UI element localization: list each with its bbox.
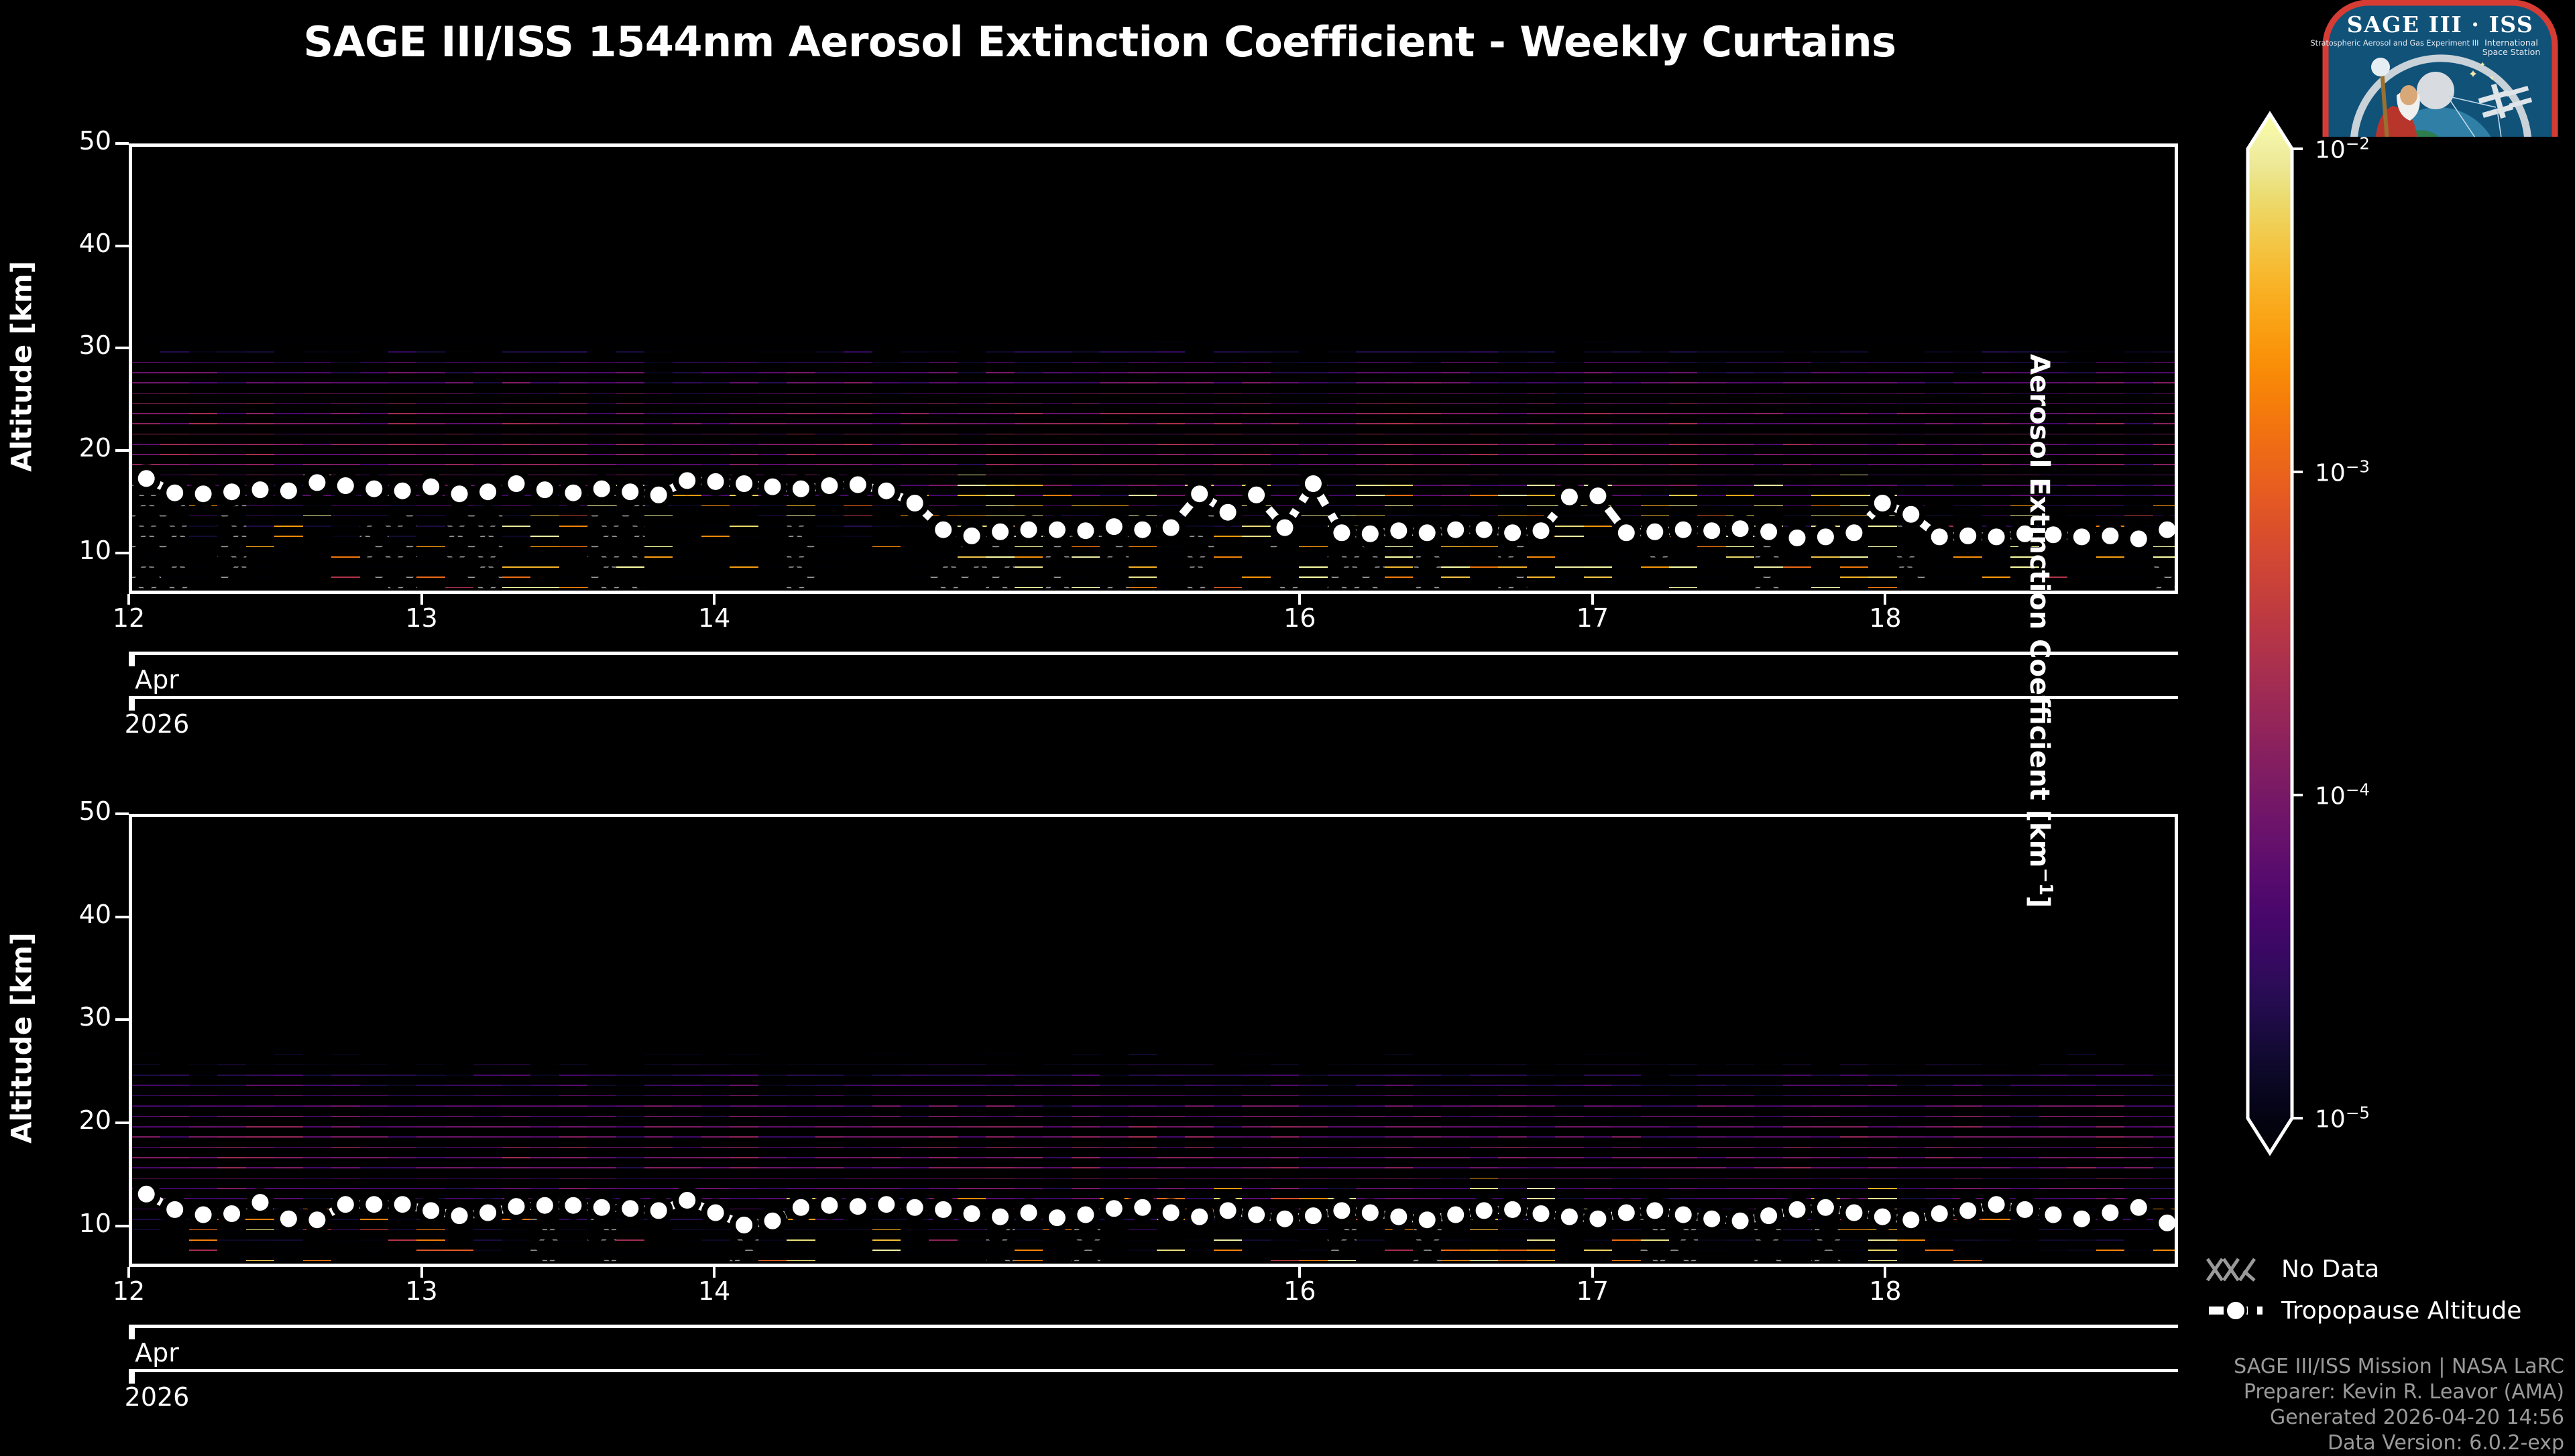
colorbar-tick-label: 10−2 (2315, 134, 2370, 164)
svg-text:Space Station: Space Station (2482, 47, 2541, 57)
footer-line: Preparer: Kevin R. Leavor (AMA) (2234, 1380, 2564, 1405)
svg-text:SAGE III · ISS: SAGE III · ISS (2347, 11, 2533, 38)
legend-label: No Data (2281, 1256, 2379, 1283)
colorbar-tick-mark (2292, 471, 2303, 473)
figure-canvas: SAGE III/ISS 1544nm Aerosol Extinction C… (0, 0, 2575, 1448)
legend-item-tropopause[interactable]: Tropopause Altitude (2206, 1295, 2521, 1326)
footer-credits: SAGE III/ISS Mission | NASA LaRCPreparer… (2234, 1354, 2564, 1456)
colorbar: 10−210−310−410−5Aerosol Extinction Coeff… (0, 0, 2575, 1448)
footer-line: Generated 2026-04-20 14:56 (2234, 1405, 2564, 1431)
colorbar-gradient (0, 0, 2575, 1448)
footer-line: SAGE III/ISS Mission | NASA LaRC (2234, 1354, 2564, 1380)
colorbar-tick-label: 10−4 (2315, 780, 2370, 810)
tropopause-marker-icon (2206, 1295, 2265, 1326)
colorbar-tick-mark (2292, 1117, 2303, 1119)
svg-text:Stratospheric Aerosol and Gas: Stratospheric Aerosol and Gas Experiment… (2311, 39, 2479, 48)
legend: No DataTropopause Altitude (2206, 1254, 2568, 1341)
legend-label: Tropopause Altitude (2281, 1297, 2521, 1325)
colorbar-title: Aerosol Extinction Coefficient [km−1] (2024, 242, 2056, 1020)
no-data-hatch-icon (2206, 1254, 2265, 1284)
legend-item-no-data[interactable]: No Data (2206, 1254, 2379, 1284)
sage-iii-iss-logo: BALL · NASA LANGLEY RESEARCH CENTER · E.… (2307, 0, 2574, 137)
colorbar-tick-mark (2292, 794, 2303, 796)
colorbar-tick-label: 10−3 (2315, 457, 2370, 487)
svg-text:International: International (2484, 38, 2538, 48)
footer-line: Data Version: 6.0.2-exp (2234, 1431, 2564, 1456)
colorbar-tick-label: 10−5 (2315, 1103, 2370, 1134)
colorbar-tick-mark (2292, 147, 2303, 150)
